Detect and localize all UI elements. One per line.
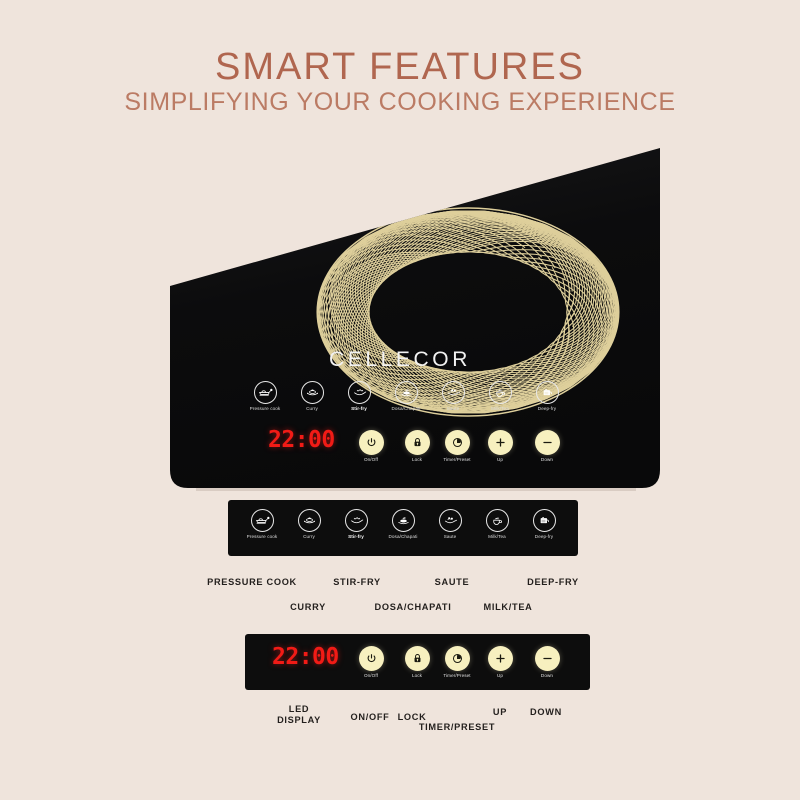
milk-cup-icon (486, 509, 509, 532)
plus-icon (488, 430, 513, 455)
callout-label-dosa-chapati: DOSA/CHAPATI (375, 602, 452, 612)
callout-label-led-display-line2: DISPLAY (277, 715, 321, 725)
callout-label-led-display-line1: LED (289, 704, 309, 714)
saute-pan-icon (439, 509, 462, 532)
saute-pan-icon (442, 381, 465, 404)
deep-fryer-icon (533, 509, 556, 532)
led-display-detail: 22:00 (272, 644, 339, 670)
function-label: Deep-fry (514, 534, 574, 539)
brand-wordmark: CELLECOR (0, 348, 800, 372)
control-button-down[interactable]: Down (517, 646, 577, 678)
power-icon (359, 430, 384, 455)
clock-icon (445, 646, 470, 671)
control-label: Down (517, 673, 577, 678)
page-title: SMART FEATURES (0, 46, 800, 89)
stir-fry-pan-icon (348, 381, 371, 404)
milk-cup-icon (489, 381, 512, 404)
led-display-main: 22:00 (268, 427, 335, 453)
control-button-down[interactable]: Down (517, 430, 577, 462)
lock-icon (405, 646, 430, 671)
minus-icon (535, 646, 560, 671)
page-subtitle: SIMPLIFYING YOUR COOKING EXPERIENCE (0, 88, 800, 117)
callout-label-on-off: ON/OFF (351, 712, 390, 722)
plus-icon (488, 646, 513, 671)
function-button-deep-fry[interactable]: Deep-fry (514, 509, 574, 539)
callout-label-up: UP (493, 707, 507, 717)
stir-fry-pan-icon (345, 509, 368, 532)
callout-label-down: DOWN (530, 707, 562, 717)
curry-pot-icon (298, 509, 321, 532)
dosa-tawa-icon (395, 381, 418, 404)
pressure-cooker-icon (254, 381, 277, 404)
callout-label-lock: LOCK (398, 712, 427, 722)
callout-label-curry: CURRY (290, 602, 326, 612)
function-button-deep-fry[interactable]: Deep-fry (517, 381, 577, 411)
callout-label-deep-fry: DEEP-FRY (527, 577, 579, 587)
cooktop-shadow (196, 488, 636, 491)
poster-canvas: SMART FEATURES SIMPLIFYING YOUR COOKING … (0, 0, 800, 800)
curry-pot-icon (301, 381, 324, 404)
dosa-tawa-icon (392, 509, 415, 532)
minus-icon (535, 430, 560, 455)
function-label: Deep-fry (517, 406, 577, 411)
callout-label-timer-preset: TIMER/PRESET (419, 722, 495, 732)
pressure-cooker-icon (251, 509, 274, 532)
lock-icon (405, 430, 430, 455)
callout-label-milk-tea: MILK/TEA (484, 602, 533, 612)
clock-icon (445, 430, 470, 455)
callout-label-stir-fry: STIR-FRY (333, 577, 381, 587)
callout-label-saute: SAUTE (435, 577, 470, 587)
callout-label-pressure-cook: PRESSURE COOK (207, 577, 297, 587)
power-icon (359, 646, 384, 671)
deep-fryer-icon (536, 381, 559, 404)
control-label: Down (517, 457, 577, 462)
